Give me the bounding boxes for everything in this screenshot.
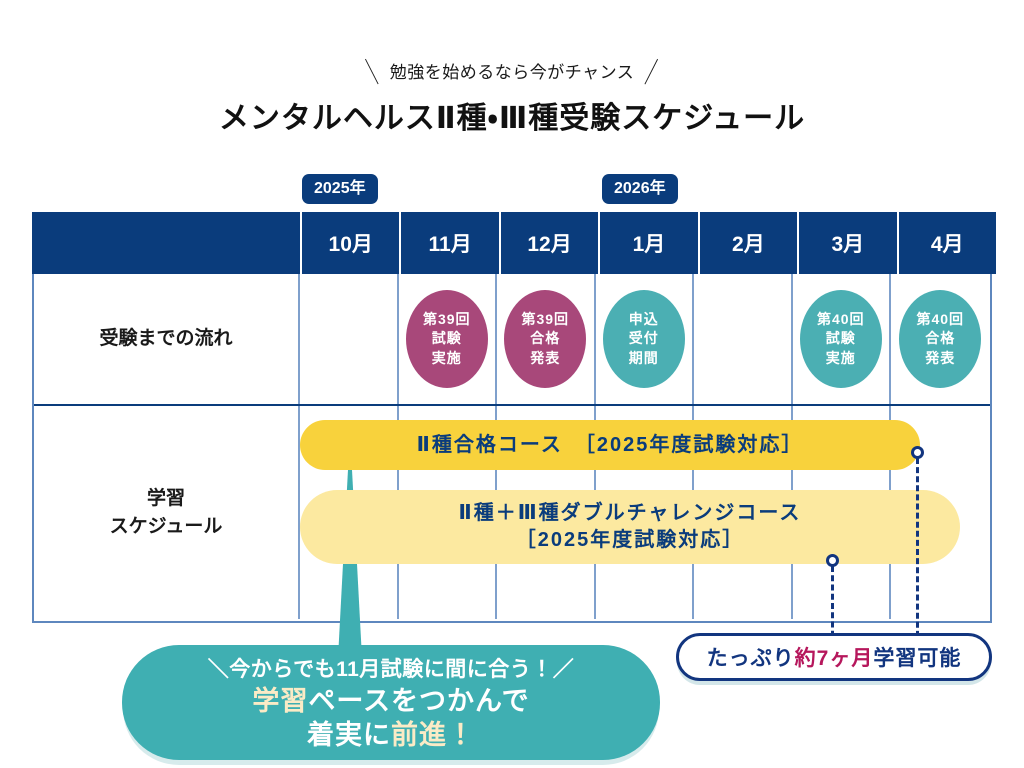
cell-flow-3: 第40回 試験 実施 <box>793 274 892 404</box>
pin-dashed-line <box>916 458 919 646</box>
month-header-4: 4月 <box>897 212 996 274</box>
event-line: 第40回 <box>916 310 964 329</box>
table-header-row: 10月 11月 12月 1月 2月 3月 4月 <box>32 212 996 274</box>
cell-flow-1: 申込 受付 期間 <box>596 274 695 404</box>
balloon-line-2: 学習ペースをつかんで <box>252 685 529 719</box>
month-header-3: 3月 <box>797 212 896 274</box>
row-label-exam-flow: 受験までの流れ <box>34 274 300 404</box>
infographic-canvas: ＼勉強を始めるなら今がチャンス／ メンタルヘルスⅡ種・Ⅲ種受験スケジュール 20… <box>0 0 1024 768</box>
event-result-39-announced: 第39回 合格 発表 <box>504 290 586 388</box>
callout-duration-prefix: たっぷり <box>707 642 795 672</box>
balloon-line-2-highlight: 学習 <box>252 686 308 716</box>
event-line: 第39回 <box>423 310 471 329</box>
slash-left-decoration: ＼ <box>357 52 388 89</box>
event-application-period: 申込 受付 期間 <box>603 290 685 388</box>
callout-encouragement-balloon: ＼今からでも11月試験に間に合う！／ 学習ペースをつかんで 着実に前進！ <box>122 645 660 760</box>
cell-flow-2 <box>694 274 793 404</box>
month-header-11: 11月 <box>399 212 498 274</box>
event-line: 試験 <box>432 329 462 348</box>
year-badge-2026: 2026年 <box>602 174 678 204</box>
cell-flow-4: 第40回 合格 発表 <box>891 274 990 404</box>
course-bar-2nd-grade[interactable]: Ⅱ種合格コース ［2025年度試験対応］ <box>300 420 920 470</box>
header-corner-cell <box>32 212 300 274</box>
row-label-line1: 学習 <box>147 488 185 509</box>
balloon-line-3-pre: 着実に <box>307 720 391 750</box>
event-line: 発表 <box>530 349 560 368</box>
cell-flow-10 <box>300 274 399 404</box>
slash-right-decoration: ／ <box>636 52 667 89</box>
event-line: 実施 <box>826 349 856 368</box>
subtitle: ＼勉強を始めるなら今がチャンス／ <box>0 55 1024 87</box>
row-label-study-schedule: 学習 スケジュール <box>34 406 300 619</box>
course-bar-double-challenge[interactable]: Ⅱ種＋Ⅲ種ダブルチャレンジコース ［2025年度試験対応］ <box>300 490 960 564</box>
event-exam-39-held: 第39回 試験 実施 <box>406 290 488 388</box>
balloon-line-3-highlight: 前進！ <box>391 720 475 750</box>
cell-flow-11: 第39回 試験 実施 <box>399 274 498 404</box>
balloon-line-3: 着実に前進！ <box>307 719 475 753</box>
event-line: 実施 <box>432 349 462 368</box>
event-line: 試験 <box>826 329 856 348</box>
event-exam-40-held: 第40回 試験 実施 <box>800 290 882 388</box>
month-header-10: 10月 <box>300 212 399 274</box>
callout-duration-highlight: 約7ヶ月 <box>795 642 874 672</box>
subtitle-text: 勉強を始めるなら今がチャンス <box>390 58 635 83</box>
month-header-12: 12月 <box>499 212 598 274</box>
table-row-exam-flow: 受験までの流れ 第39回 試験 実施 第39回 合格 発表 申込 <box>34 274 990 406</box>
cell-flow-12: 第39回 合格 発表 <box>497 274 596 404</box>
month-header-2: 2月 <box>698 212 797 274</box>
event-line: 受付 <box>629 329 659 348</box>
callout-study-duration: たっぷり約7ヶ月学習可能 <box>676 633 992 681</box>
event-line: 合格 <box>925 329 955 348</box>
event-result-40-announced: 第40回 合格 発表 <box>899 290 981 388</box>
year-badge-2025: 2025年 <box>302 174 378 204</box>
event-line: 第39回 <box>521 310 569 329</box>
balloon-line-2-rest: ペースをつかんで <box>308 686 529 716</box>
balloon-line-1: ＼今からでも11月試験に間に合う！／ <box>208 653 575 683</box>
page-title: メンタルヘルスⅡ種・Ⅲ種受験スケジュール <box>0 93 1024 137</box>
callout-duration-suffix: 学習可能 <box>873 642 961 672</box>
event-line: 合格 <box>530 329 560 348</box>
event-line: 第40回 <box>817 310 865 329</box>
month-header-1: 1月 <box>598 212 697 274</box>
event-line: 発表 <box>925 349 955 368</box>
course-bar-2-line1: Ⅱ種＋Ⅲ種ダブルチャレンジコース <box>459 502 802 524</box>
event-line: 申込 <box>629 310 659 329</box>
course-bar-2-line2: ［2025年度試験対応］ <box>516 529 745 551</box>
row-label-line2: スケジュール <box>110 516 223 537</box>
event-line: 期間 <box>629 349 659 368</box>
